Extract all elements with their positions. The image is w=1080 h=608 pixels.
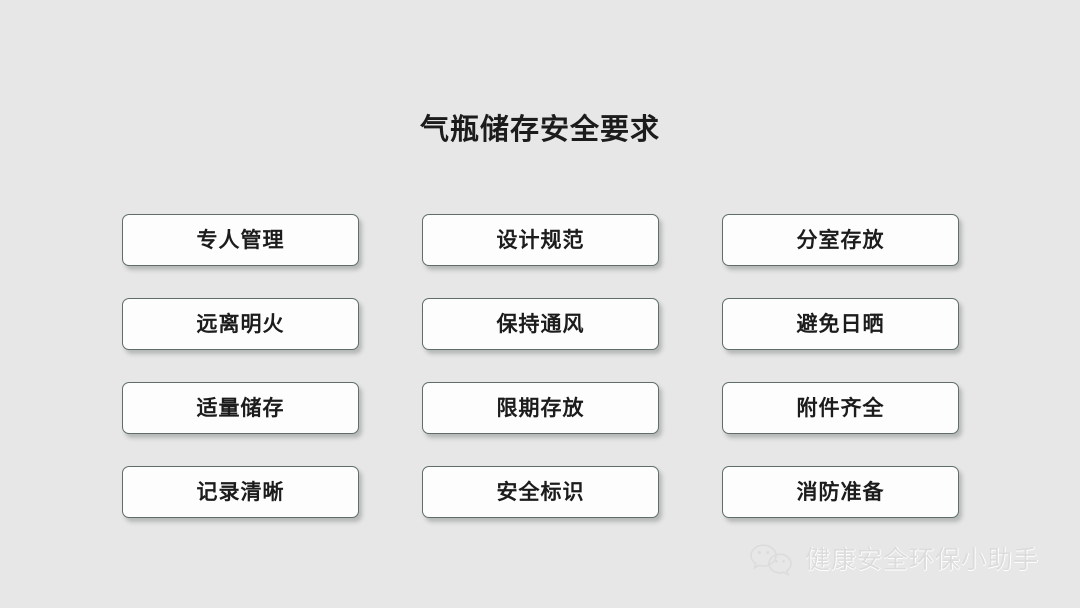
requirement-label: 限期存放 bbox=[497, 398, 585, 419]
requirement-label: 专人管理 bbox=[197, 230, 285, 251]
requirement-box[interactable]: 安全标识 bbox=[422, 466, 659, 518]
requirement-label: 分室存放 bbox=[797, 230, 885, 251]
watermark-text: 健康安全环保小助手 bbox=[805, 548, 1039, 573]
requirement-box[interactable]: 限期存放 bbox=[422, 382, 659, 434]
requirement-box[interactable]: 适量储存 bbox=[122, 382, 359, 434]
requirement-box[interactable]: 保持通风 bbox=[422, 298, 659, 350]
requirement-box[interactable]: 设计规范 bbox=[422, 214, 659, 266]
wechat-icon bbox=[748, 542, 796, 578]
requirement-label: 附件齐全 bbox=[797, 398, 885, 419]
requirement-label: 设计规范 bbox=[497, 230, 585, 251]
requirement-label: 适量储存 bbox=[197, 398, 285, 419]
watermark: 健康安全环保小助手 bbox=[748, 534, 978, 586]
slide-canvas: 气瓶储存安全要求 专人管理 设计规范 分室存放 远离明火 保持通风 避免日晒 适… bbox=[0, 0, 1080, 608]
requirement-label: 保持通风 bbox=[497, 314, 585, 335]
requirement-box[interactable]: 消防准备 bbox=[722, 466, 959, 518]
requirement-label: 消防准备 bbox=[797, 482, 885, 503]
requirement-label: 记录清晰 bbox=[197, 482, 285, 503]
requirement-box[interactable]: 避免日晒 bbox=[722, 298, 959, 350]
requirement-label: 避免日晒 bbox=[797, 314, 885, 335]
requirement-box[interactable]: 分室存放 bbox=[722, 214, 959, 266]
requirement-label: 安全标识 bbox=[497, 482, 585, 503]
requirement-box[interactable]: 专人管理 bbox=[122, 214, 359, 266]
requirement-box[interactable]: 附件齐全 bbox=[722, 382, 959, 434]
requirements-grid: 专人管理 设计规范 分室存放 远离明火 保持通风 避免日晒 适量储存 限期存放 … bbox=[122, 214, 959, 517]
requirement-box[interactable]: 远离明火 bbox=[122, 298, 359, 350]
requirement-label: 远离明火 bbox=[197, 314, 285, 335]
page-title: 气瓶储存安全要求 bbox=[0, 116, 1080, 145]
requirement-box[interactable]: 记录清晰 bbox=[122, 466, 359, 518]
